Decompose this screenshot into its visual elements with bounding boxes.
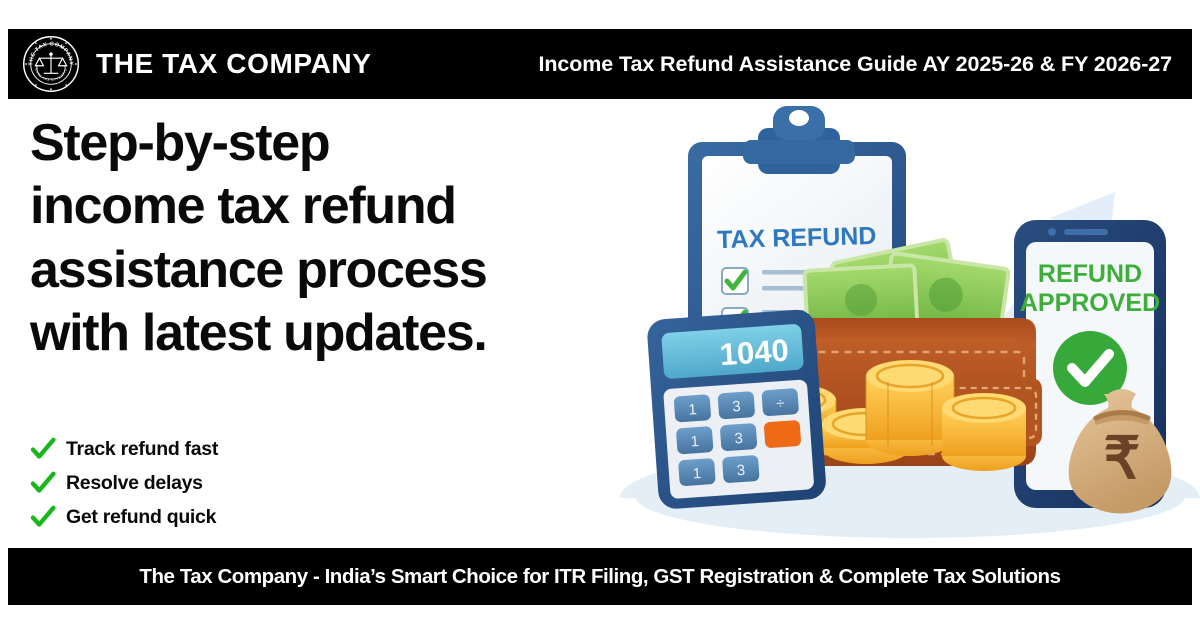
list-item-label: Get refund quick [66,506,216,529]
calculator: 1040 1 3 ÷ 1 3 1 3 [646,309,827,510]
list-item: Track refund fast [30,432,460,466]
footer-bar: The Tax Company - India’s Smart Choice f… [8,548,1192,605]
svg-text:3: 3 [734,430,744,448]
clipboard-title: TAX REFUND [717,222,877,254]
green-check-icon [30,504,56,530]
headline-line-1: Step-by-step [30,112,640,175]
headline-line-3: assistance process [30,239,640,302]
phone-line-1: REFUND [1038,260,1142,288]
svg-text:1: 1 [692,465,702,483]
calculator-display: 1040 [719,333,790,373]
header-subtitle: Income Tax Refund Assistance Guide AY 20… [538,52,1180,77]
footer-tagline: The Tax Company - India’s Smart Choice f… [139,565,1060,589]
rupee-symbol: ₹ [1104,426,1141,491]
list-item-label: Track refund fast [66,438,218,461]
brand-name: THE TAX COMPANY [96,48,372,80]
benefits-list: Track refund fast Resolve delays Get ref… [30,432,460,534]
headline-line-4: with latest updates. [30,302,640,365]
page-title: Step-by-step income tax refund assistanc… [30,112,640,366]
list-item: Resolve delays [30,466,460,500]
brand-group[interactable]: THE TAX COMPANY TRUST TAX EXPERTISE [22,35,372,93]
green-check-icon [30,470,56,496]
headline-block: Step-by-step income tax refund assistanc… [30,112,640,366]
svg-text:1: 1 [690,433,700,451]
list-item: Get refund quick [30,500,460,534]
calculator-accent-key [764,420,802,448]
headline-line-2: income tax refund [30,175,640,238]
green-check-icon [30,436,56,462]
banner-root: THE TAX COMPANY TRUST TAX EXPERTISE [0,0,1200,630]
svg-text:3: 3 [736,462,746,480]
list-item-label: Resolve delays [66,472,203,495]
header-bar: THE TAX COMPANY TRUST TAX EXPERTISE [8,29,1192,99]
svg-text:1: 1 [688,401,698,419]
svg-text:÷: ÷ [776,395,785,413]
phone-line-2: APPROVED [1020,289,1160,317]
tax-refund-illustration: TAX REFUND [610,100,1200,548]
tax-company-seal-icon: THE TAX COMPANY TRUST TAX EXPERTISE [22,35,80,93]
svg-text:3: 3 [732,398,742,416]
